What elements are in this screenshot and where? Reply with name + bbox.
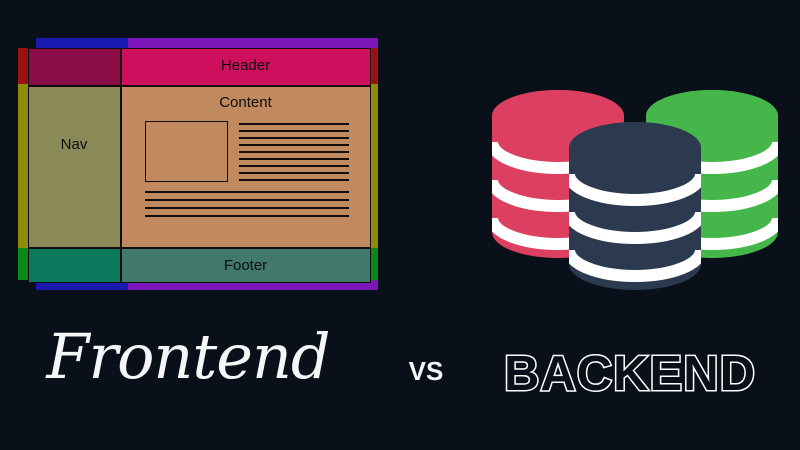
content-text-line — [145, 199, 349, 201]
nav-label: Nav — [61, 137, 88, 152]
edge-strip-left-nav — [18, 84, 28, 248]
content-text-line — [145, 207, 349, 209]
wireframe-page-frame: Header Nav Content Footer — [28, 48, 368, 280]
header-label: Header — [221, 58, 270, 73]
header-region: Header — [121, 48, 371, 86]
content-text-line — [145, 191, 349, 193]
backend-database-illustration — [470, 80, 800, 295]
header-left-block — [28, 48, 121, 86]
content-text-line — [239, 130, 349, 132]
footer-label: Footer — [224, 258, 267, 273]
content-text-line — [239, 144, 349, 146]
content-text-line — [239, 172, 349, 174]
content-inner: Content — [122, 87, 370, 247]
edge-strip-left-header — [18, 48, 28, 84]
content-text-line — [145, 215, 349, 217]
backend-title: BACKEND — [470, 346, 790, 402]
caption-row: Frontend VS BACKEND — [0, 318, 800, 423]
frontend-wireframe-illustration: Header Nav Content Footer — [18, 38, 378, 290]
content-text-line — [239, 165, 349, 167]
content-text-line — [239, 158, 349, 160]
content-label: Content — [122, 95, 370, 110]
content-text-lines-bottom — [145, 191, 349, 223]
footer-left-block — [28, 248, 121, 283]
content-text-lines-right — [239, 123, 349, 186]
edge-strip-left-footer — [18, 248, 28, 280]
content-text-line — [239, 123, 349, 125]
edge-strip-top-right — [128, 38, 378, 48]
content-text-line — [239, 151, 349, 153]
content-text-line — [239, 137, 349, 139]
content-text-line — [239, 179, 349, 181]
image-placeholder-box — [145, 121, 228, 182]
database-navy-icon — [569, 122, 701, 290]
edge-strip-top-left — [36, 38, 128, 48]
nav-region: Nav — [28, 86, 121, 248]
frontend-title: Frontend — [18, 318, 358, 396]
footer-region: Footer — [121, 248, 371, 283]
versus-label: VS — [396, 356, 456, 387]
content-region: Content — [121, 86, 371, 248]
